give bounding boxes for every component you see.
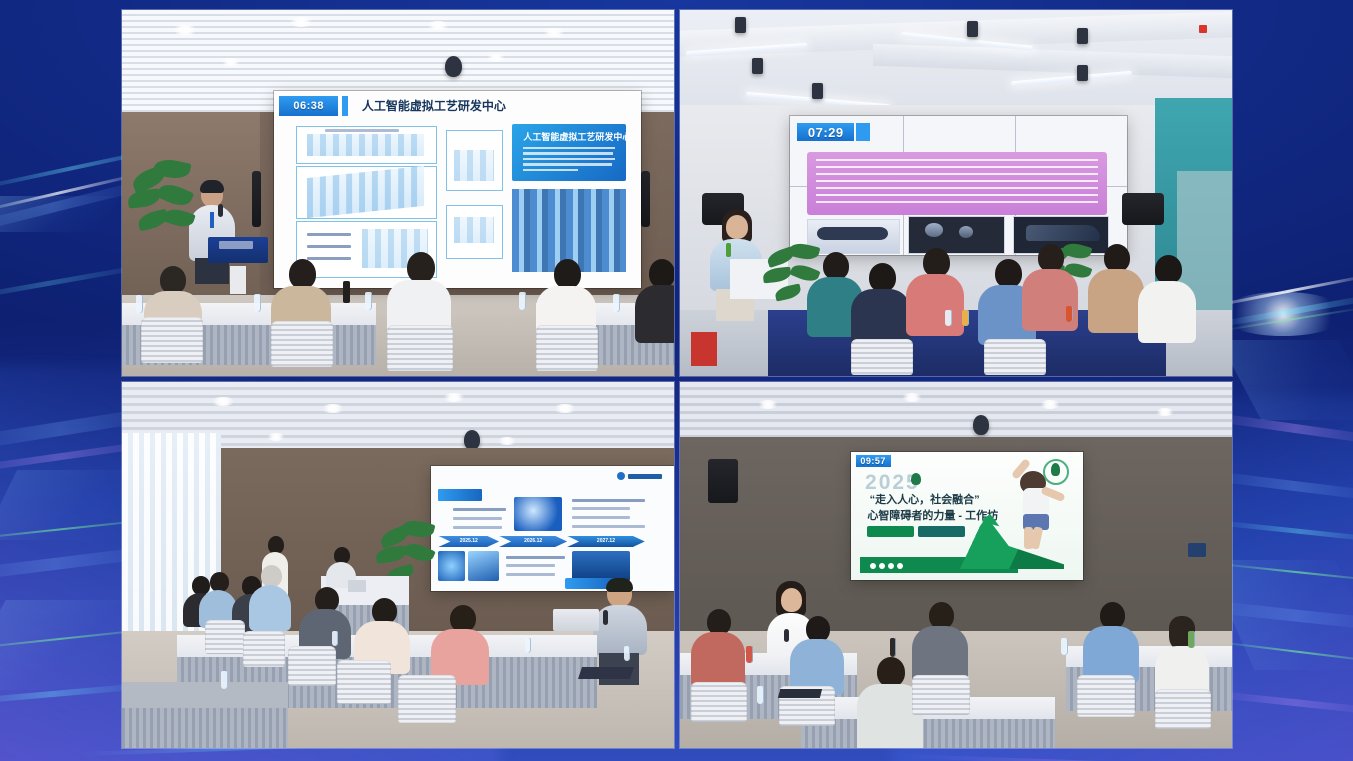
a4-1 xyxy=(691,609,745,687)
dl3-4 xyxy=(553,404,577,413)
slide-timer-badge: 06:38 xyxy=(279,96,338,116)
slide-title-line-1: “走入人心，社会融合” xyxy=(870,491,980,507)
timer-accent-bar xyxy=(342,96,348,116)
flow-caption xyxy=(325,129,398,132)
wall-speaker-left xyxy=(252,171,261,227)
corporate-logo xyxy=(617,472,662,480)
collage-stage: 06:38 人工智能虚拟工艺研发中心 xyxy=(0,0,1353,761)
dl3-2 xyxy=(321,404,345,413)
chair-2 xyxy=(271,321,333,367)
slide-purple-text-box xyxy=(807,152,1107,215)
water-bottle-3 xyxy=(365,292,372,310)
water-bottle-3-4 xyxy=(624,646,630,661)
chair-2-2 xyxy=(984,339,1046,375)
3d-model xyxy=(454,217,494,243)
roadmap-text-b2 xyxy=(572,507,630,510)
a3-7 xyxy=(431,605,489,685)
water-bottle-2-3 xyxy=(1066,306,1073,322)
downlight-1 xyxy=(172,25,198,35)
chair-4-4 xyxy=(1077,675,1135,717)
audience-2-3 xyxy=(906,248,966,336)
timeline-step-3: 2027.12 xyxy=(567,536,645,547)
product-row-1 xyxy=(307,233,351,236)
photo-bottom-left[interactable]: 2025.12 2026.12 2027.12 xyxy=(122,382,674,748)
dl4-2 xyxy=(901,393,923,402)
audience-2-7 xyxy=(1138,255,1198,343)
water-bottle-3-2 xyxy=(332,631,338,646)
tree-logo-glyph xyxy=(1051,463,1060,476)
track-light-1 xyxy=(735,17,746,33)
photo-top-left[interactable]: 06:38 人工智能虚拟工艺研发中心 xyxy=(122,10,674,376)
footer-dot-1 xyxy=(870,563,876,569)
water-bottle-2-1 xyxy=(945,310,952,326)
chair-4 xyxy=(536,325,598,371)
roadmap-text-c3 xyxy=(506,573,555,576)
water-bottle-4-1 xyxy=(746,646,753,663)
roadmap-text-b3 xyxy=(572,516,630,519)
track-light-4 xyxy=(967,21,978,37)
water-bottle-4-2 xyxy=(757,686,764,704)
track-light-2 xyxy=(752,58,763,74)
water-bottle-4 xyxy=(519,292,526,310)
roadmap-text-a2 xyxy=(453,517,502,520)
microphone-icon-4 xyxy=(784,629,789,642)
photo-top-right[interactable]: 07:29 xyxy=(680,10,1232,376)
lamp-dome-2 xyxy=(959,226,973,238)
microphone-icon xyxy=(218,204,223,217)
roadmap-text-c1 xyxy=(506,556,564,559)
wall-speaker-right-2 xyxy=(1122,193,1164,225)
timeline-step-2: 2026.12 xyxy=(499,536,567,547)
tag-presenter xyxy=(867,526,913,538)
tag-meta xyxy=(918,526,964,538)
table-4-center-skirt xyxy=(801,719,1055,748)
slide-title-line-2: 心智障碍者的力量 - 工作坊 xyxy=(867,507,998,523)
gift-bag xyxy=(691,332,717,366)
wall-speaker-4 xyxy=(708,459,738,503)
roadmap-image-lens xyxy=(468,551,500,581)
roadmap-text-c2 xyxy=(506,564,555,567)
dl3-3 xyxy=(442,393,466,402)
dl3-5 xyxy=(266,433,286,441)
presentation-screen-2[interactable]: 07:29 xyxy=(790,116,1127,255)
roadmap-text-b4 xyxy=(572,525,645,528)
roadmap-image-equipment xyxy=(572,551,630,581)
water-bottle-2 xyxy=(254,294,261,312)
presenter-3-hair xyxy=(606,578,633,592)
audience-2-2 xyxy=(851,263,913,351)
microphone-icon-3 xyxy=(603,610,608,625)
downlight-6 xyxy=(486,54,506,62)
presenter-lanyard xyxy=(210,212,214,228)
track-light-5 xyxy=(1077,28,1088,44)
chair-3-4 xyxy=(337,660,391,704)
tree-glyph-small xyxy=(911,473,921,485)
chair-3-1 xyxy=(205,620,245,654)
roadmap-text-a3 xyxy=(453,526,502,529)
chair-4-3 xyxy=(912,675,970,715)
purple-box-lines xyxy=(816,159,1098,208)
ceiling-camera-icon xyxy=(445,56,462,77)
notepad xyxy=(578,667,634,679)
chair-3-2 xyxy=(243,631,285,667)
curve-chart xyxy=(454,150,494,182)
laptop-icon xyxy=(348,580,366,592)
downlight-5 xyxy=(221,58,241,66)
podium-stand xyxy=(230,266,246,294)
slide-section-badge xyxy=(438,489,482,501)
chair-3-5 xyxy=(398,675,456,723)
water-bottle-5 xyxy=(613,294,620,312)
water-bottle-4-5 xyxy=(1188,631,1195,648)
car-headlight-shape xyxy=(1026,225,1100,242)
water-bottle-1 xyxy=(136,295,143,313)
chair-2-1 xyxy=(851,339,913,375)
slide-callout-title: 人工智能虚拟工艺研发中心 xyxy=(523,130,631,143)
a4-5 xyxy=(1083,602,1139,682)
photo-bottom-right[interactable]: 09:57 2025 “走入人心，社会融合” 心智障碍者的力量 - 工作坊 xyxy=(680,382,1232,748)
plant-left xyxy=(128,160,208,250)
microphone-icon-2 xyxy=(726,243,731,257)
water-bottle-3-3 xyxy=(525,638,531,653)
chair-4-5 xyxy=(1155,689,1211,729)
presentation-screen-3[interactable]: 2025.12 2026.12 2027.12 xyxy=(431,466,674,590)
ceiling-camera-icon-4 xyxy=(973,415,989,435)
audience-5 xyxy=(635,259,674,343)
roadmap-image-dome xyxy=(514,497,563,531)
track-light-3 xyxy=(812,83,823,99)
thermos xyxy=(343,281,350,303)
slide-timer-badge-4: 09:57 xyxy=(856,455,891,467)
dl3-1 xyxy=(210,397,236,406)
downlight-3 xyxy=(426,21,450,30)
ceiling-camera-icon-3 xyxy=(464,430,480,450)
wall-panel-icon xyxy=(1188,543,1206,557)
slide-callout-body xyxy=(523,144,615,175)
water-bottle-4-3 xyxy=(890,638,896,657)
product-row-2 xyxy=(307,245,351,248)
slide-timer-badge-2: 07:29 xyxy=(797,123,854,141)
podium-logo xyxy=(219,241,253,249)
alarm-indicator xyxy=(1199,25,1207,33)
a3-4 xyxy=(249,565,291,631)
dl4-4 xyxy=(1155,408,1175,416)
chair-3-3 xyxy=(288,646,336,686)
a4-2 xyxy=(790,616,844,694)
podium-3 xyxy=(553,609,599,631)
presentation-screen-4[interactable]: 09:57 2025 “走入人心，社会融合” 心智障碍者的力量 - 工作坊 xyxy=(851,452,1083,580)
glasses-shape xyxy=(817,227,888,240)
water-bottle-3-1 xyxy=(221,671,228,689)
chair-3 xyxy=(387,325,453,371)
water-bottle-4-4 xyxy=(1061,638,1068,655)
roadmap-text-b1 xyxy=(572,499,645,502)
roadmap-text-a1 xyxy=(453,508,506,511)
water-bottle-2-2 xyxy=(962,310,969,326)
footer-dot-2 xyxy=(879,563,885,569)
dl3-6 xyxy=(497,437,517,445)
chair-1 xyxy=(141,317,203,363)
photo-grid: 06:38 人工智能虚拟工艺研发中心 xyxy=(122,10,1232,748)
flow-diagram xyxy=(307,134,424,156)
track-light-6 xyxy=(1077,65,1088,81)
notebook-icon xyxy=(778,689,822,698)
a4-6 xyxy=(1155,616,1209,700)
table-3-front-skirt xyxy=(122,708,288,748)
slide-title-1: 人工智能虚拟工艺研发中心 xyxy=(362,97,506,114)
timeline-step-1: 2025.12 xyxy=(438,536,499,547)
wall-speaker-right xyxy=(641,171,650,227)
chair-4-1 xyxy=(691,682,747,722)
timer-unit-label xyxy=(856,123,869,141)
